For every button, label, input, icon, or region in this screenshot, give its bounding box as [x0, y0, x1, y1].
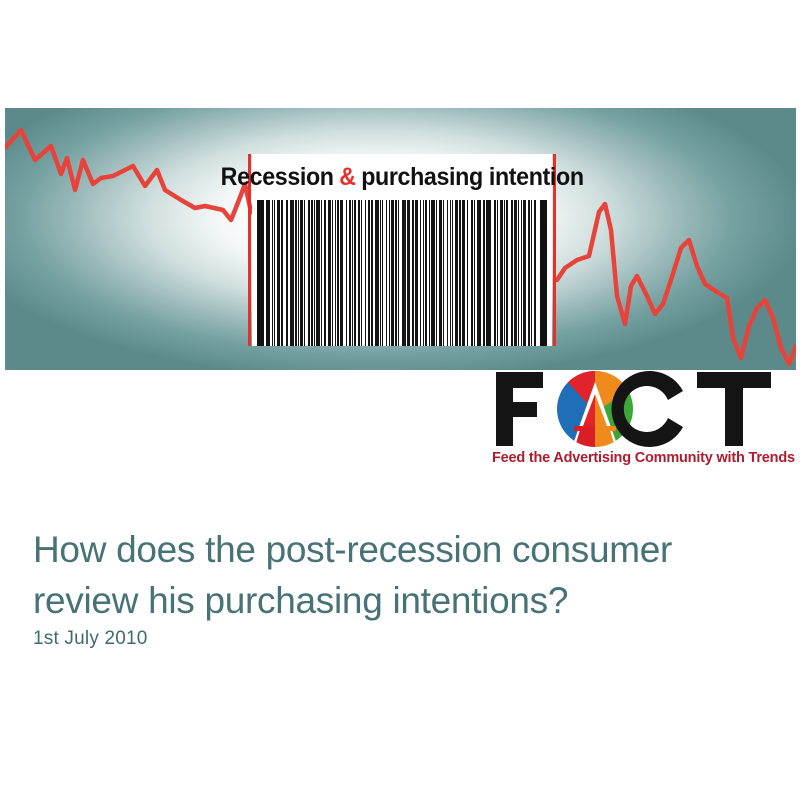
- barcode-bars: [266, 200, 538, 346]
- hero-banner: Recession&purchasing intention: [5, 108, 796, 370]
- barcode-title-word-2: purchasing intention: [361, 163, 583, 192]
- fact-logo: Feed the Advertising Community with Tren…: [492, 368, 792, 476]
- logo-letter-t: [697, 372, 771, 446]
- page-title: How does the post-recession consumer rev…: [33, 524, 763, 626]
- logo-letter-f: [496, 372, 543, 446]
- page-date: 1st July 2010: [33, 628, 148, 650]
- trendline-right: [557, 204, 796, 364]
- fact-logo-mark: [492, 368, 792, 450]
- fact-logo-tagline: Feed the Advertising Community with Tren…: [492, 450, 792, 466]
- logo-letter-c: [612, 371, 683, 447]
- barcode-title: Recession&purchasing intention: [252, 154, 552, 200]
- trendline-left: [5, 130, 251, 220]
- barcode-title-ampersand: &: [339, 163, 355, 192]
- barcode-graphic: Recession&purchasing intention: [248, 154, 556, 346]
- barcode-title-word-1: Recession: [220, 163, 333, 192]
- barcode-body: Recession&purchasing intention: [252, 154, 552, 346]
